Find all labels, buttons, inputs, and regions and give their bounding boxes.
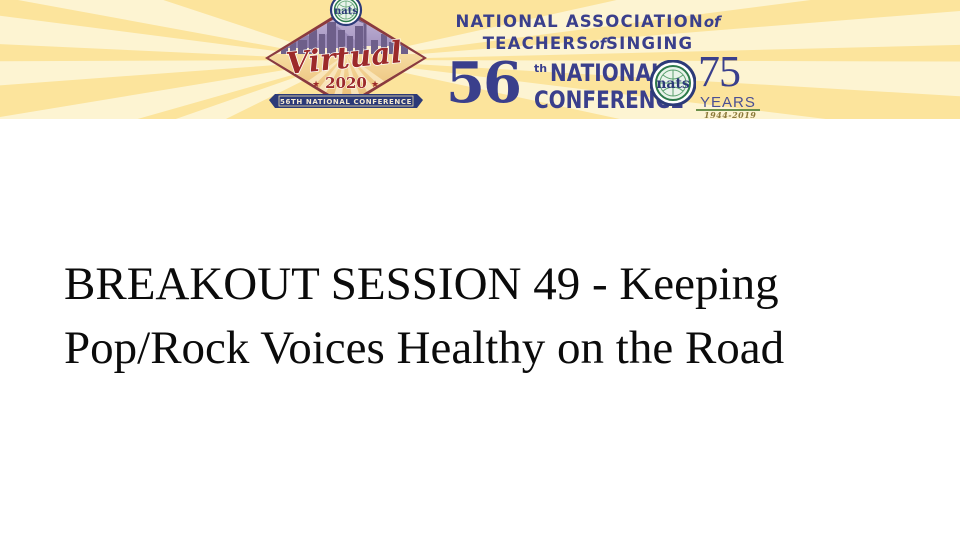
svg-text:nats: nats [656,76,690,92]
nats-name-line2-singing: SINGING [606,34,693,53]
seal-date-range: 1944-2019 [704,110,756,119]
nats-seal-icon: nats [650,60,696,106]
nats-name-line1-text: NATIONAL ASSOCIATION [455,12,703,31]
seal-years-label: YEARS [700,94,756,111]
conference-label-national: NATIONAL [550,58,664,87]
svg-text:★: ★ [371,80,379,90]
conference-ribbon: 56TH NATIONAL CONFERENCE [269,94,423,108]
slide-title-line-2: Pop/Rock Voices Healthy on the Road [64,316,898,380]
seal-years-number: 75 [698,50,740,94]
nats-name-line-1: NATIONAL ASSOCIATIONof [438,14,738,31]
slide-title-line-1: BREAKOUT SESSION 49 - Keeping [64,252,898,316]
conference-number-block: 56 th NATIONAL CONFERENCE [446,56,656,118]
svg-text:2020: 2020 [325,74,367,92]
nats-name-line1-of: of [704,13,721,31]
svg-text:nats: nats [334,6,358,17]
virtual-2020-diamond-logo: nats Virtual 2020 ★ ★ 56TH NATIONAL CONF… [253,0,439,119]
nats-75-years-seal: nats 75 YEARS 1944-2019 [650,54,768,119]
conference-banner: nats Virtual 2020 ★ ★ 56TH NATIONAL CONF… [0,0,960,119]
nats-name-line2-of: of [589,35,606,53]
svg-text:★: ★ [312,80,320,90]
nats-emblem-icon: nats [331,0,361,25]
conference-ordinal: th [534,62,547,75]
nats-wordmark-block: NATIONAL ASSOCIATIONof TEACHERSofSINGING… [438,6,768,118]
svg-text:56TH NATIONAL CONFERENCE: 56TH NATIONAL CONFERENCE [280,98,412,106]
conference-number: 56 [446,56,520,110]
slide-title: BREAKOUT SESSION 49 - Keeping Pop/Rock V… [64,252,898,380]
